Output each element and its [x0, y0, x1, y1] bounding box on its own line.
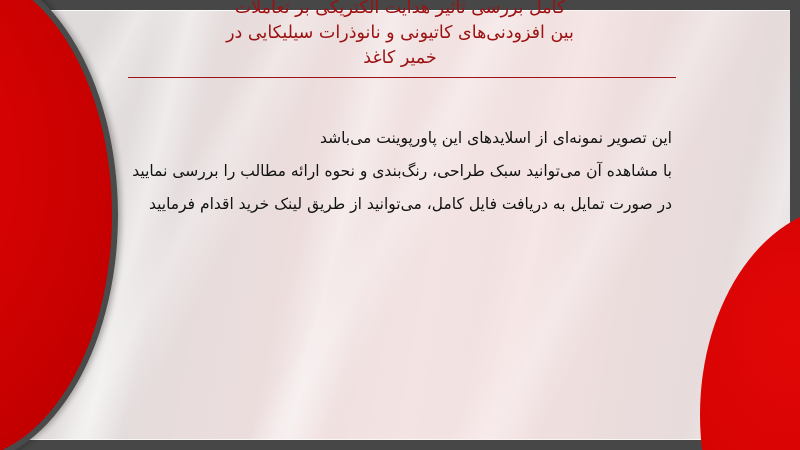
slide-title: کامل بررسی تأثیر هدایت الکتریکی بر تعامل… [120, 0, 680, 71]
body-line-1: این تصویر نمونه‌ای از اسلایدهای این پاور… [112, 122, 672, 155]
title-line-2: بین افزودنی‌های کاتیونی و نانوذرات سیلیک… [120, 21, 680, 46]
presentation-slide: کامل بررسی تأثیر هدایت الکتریکی بر تعامل… [0, 0, 800, 450]
title-line-1: کامل بررسی تأثیر هدایت الکتریکی بر تعامل… [120, 0, 680, 21]
slide-body-text: این تصویر نمونه‌ای از اسلایدهای این پاور… [112, 122, 672, 221]
title-divider-rule [128, 77, 676, 78]
body-line-3: در صورت تمایل به دریافت فایل کامل، می‌تو… [112, 188, 672, 221]
slide-canvas [10, 10, 790, 440]
body-line-2: با مشاهده آن می‌توانید سبک طراحی، رنگ‌بن… [112, 155, 672, 188]
title-line-3: خمیر کاغذ [120, 46, 680, 71]
background-sheen-bands [10, 10, 790, 440]
